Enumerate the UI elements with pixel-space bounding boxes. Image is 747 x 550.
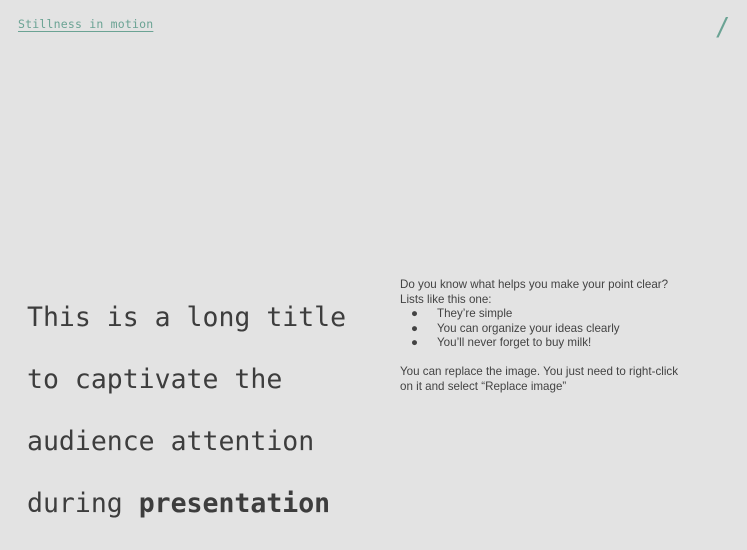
bullet-icon: ● xyxy=(411,322,418,337)
slide-canvas: Stillness in motion / This is a long tit… xyxy=(0,0,747,420)
bullet-list: ● They’re simple ● You can organize your… xyxy=(400,307,720,351)
bullet-icon: ● xyxy=(411,307,418,322)
header-link[interactable]: Stillness in motion xyxy=(18,17,153,31)
list-item-label: They’re simple xyxy=(437,307,512,320)
list-item: ● You’ll never forget to buy milk! xyxy=(400,336,720,351)
title-line-2: to captivate the xyxy=(27,364,377,395)
slide-title: This is a long title to captivate the au… xyxy=(27,271,377,550)
closing-line-2: on it and select “Replace image” xyxy=(400,380,720,395)
list-item-label: You can organize your ideas clearly xyxy=(437,322,620,335)
title-line-1: This is a long title xyxy=(27,302,377,333)
intro-line-2: Lists like this one: xyxy=(400,293,720,308)
intro-paragraph: Do you know what helps you make your poi… xyxy=(400,278,720,307)
intro-line-1: Do you know what helps you make your poi… xyxy=(400,278,720,293)
list-item-label: You’ll never forget to buy milk! xyxy=(437,336,591,349)
list-item: ● They’re simple xyxy=(400,307,720,322)
closing-line-1: You can replace the image. You just need… xyxy=(400,365,720,380)
slide-body: Do you know what helps you make your poi… xyxy=(400,278,720,394)
title-line-4: during presentation xyxy=(27,488,377,519)
title-line-3: audience attention xyxy=(27,426,377,457)
slash-decoration-icon[interactable]: / xyxy=(715,14,730,39)
title-line-4-text: during xyxy=(27,488,139,519)
list-item: ● You can organize your ideas clearly xyxy=(400,322,720,337)
image-placeholder[interactable] xyxy=(0,45,747,260)
closing-paragraph: You can replace the image. You just need… xyxy=(400,365,720,394)
bullet-icon: ● xyxy=(411,336,418,351)
title-emphasis: presentation xyxy=(139,488,330,519)
